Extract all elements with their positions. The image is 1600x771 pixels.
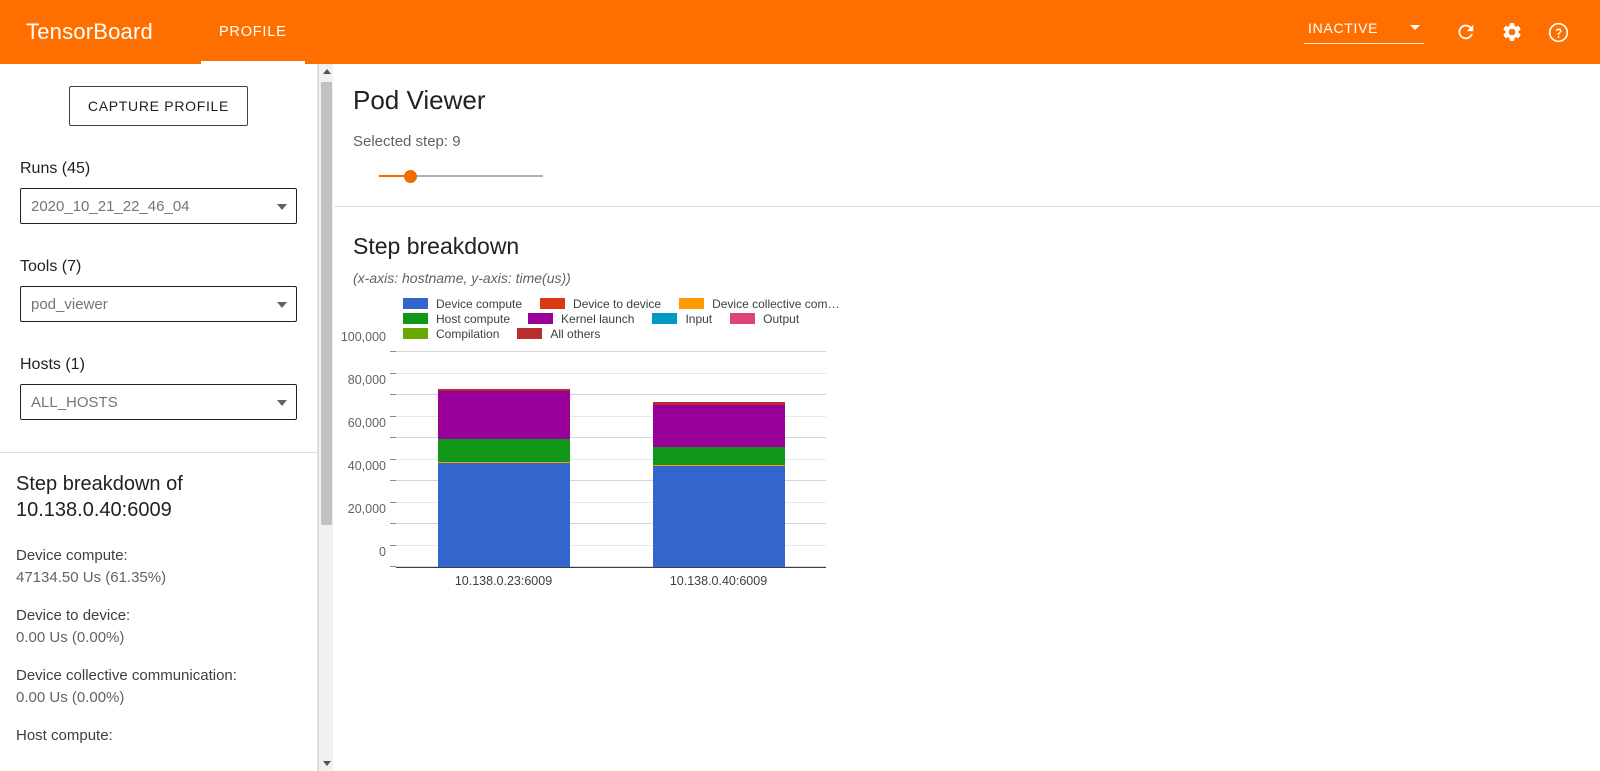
detail-row-key: Device compute: bbox=[16, 545, 301, 567]
detail-row-value: 0.00 Us (0.00%) bbox=[16, 687, 301, 709]
legend-swatch bbox=[528, 313, 553, 324]
chevron-down-icon bbox=[277, 400, 287, 406]
chart-legend: Device computeDevice to deviceDevice col… bbox=[403, 296, 873, 341]
app-header: TensorBoard PROFILE INACTIVE bbox=[0, 0, 1600, 64]
run-status-dropdown[interactable]: INACTIVE bbox=[1304, 20, 1424, 44]
legend-item[interactable]: Host compute bbox=[403, 312, 510, 326]
detail-row-value: 47134.50 Us (61.35%) bbox=[16, 567, 301, 589]
capture-profile-button[interactable]: CAPTURE PROFILE bbox=[69, 86, 248, 126]
page-title: Pod Viewer bbox=[353, 84, 1600, 116]
tab-profile[interactable]: PROFILE bbox=[201, 0, 305, 64]
detail-row-key: Device to device: bbox=[16, 605, 301, 627]
y-axis-tick-mark bbox=[390, 373, 396, 374]
bar-segment[interactable] bbox=[653, 466, 785, 567]
capture-profile-section: CAPTURE PROFILE bbox=[0, 64, 317, 126]
legend-item[interactable]: Device collective com… bbox=[679, 297, 839, 311]
legend-label: Output bbox=[763, 312, 799, 326]
y-axis-tick-mark bbox=[390, 480, 396, 481]
gridline bbox=[396, 373, 826, 374]
selected-step-label: Selected step: 9 bbox=[353, 133, 1600, 150]
bar-segment[interactable] bbox=[438, 391, 570, 438]
legend-swatch bbox=[403, 313, 428, 324]
hosts-label: Hosts (1) bbox=[20, 356, 297, 374]
legend-swatch bbox=[679, 298, 704, 309]
step-breakdown-card: Step breakdown (x-axis: hostname, y-axis… bbox=[334, 207, 1600, 596]
legend-label: Device to device bbox=[573, 297, 661, 311]
y-axis-tick-label: 60,000 bbox=[348, 416, 386, 430]
scroll-down-arrow-icon[interactable] bbox=[319, 756, 334, 771]
legend-swatch bbox=[540, 298, 565, 309]
y-axis-tick-label: 100,000 bbox=[341, 330, 386, 344]
bar-segment[interactable] bbox=[438, 463, 570, 567]
hosts-field: Hosts (1) ALL_HOSTS bbox=[20, 356, 297, 420]
bar-segment[interactable] bbox=[438, 439, 570, 462]
nav-tabs: PROFILE bbox=[201, 0, 305, 64]
legend-label: Device collective com… bbox=[712, 297, 839, 311]
scroll-up-arrow-icon[interactable] bbox=[319, 64, 334, 79]
y-axis-tick-label: 0 bbox=[379, 545, 386, 559]
detail-row-key: Host compute: bbox=[16, 725, 301, 747]
tools-label: Tools (7) bbox=[20, 258, 297, 276]
stacked-bar[interactable] bbox=[438, 389, 570, 567]
legend-item[interactable]: Device to device bbox=[540, 297, 661, 311]
tab-profile-label: PROFILE bbox=[219, 24, 287, 40]
legend-label: Host compute bbox=[436, 312, 510, 326]
help-icon bbox=[1547, 21, 1570, 44]
detail-row: Device to device:0.00 Us (0.00%) bbox=[16, 605, 301, 649]
step-breakdown-chart: Device computeDevice to deviceDevice col… bbox=[353, 296, 873, 596]
chart-title: Step breakdown bbox=[353, 233, 1600, 260]
page-header: Pod Viewer Selected step: 9 bbox=[334, 64, 1600, 184]
legend-swatch bbox=[403, 298, 428, 309]
chevron-down-icon bbox=[1410, 25, 1420, 30]
detail-rows: Device compute:47134.50 Us (61.35%)Devic… bbox=[16, 545, 301, 747]
legend-item[interactable]: Output bbox=[730, 312, 799, 326]
y-axis-tick-mark bbox=[390, 566, 396, 567]
legend-row: Host computeKernel launchInputOutput bbox=[403, 311, 873, 326]
y-axis-tick-label: 80,000 bbox=[348, 373, 386, 387]
step-breakdown-detail-panel: Step breakdown of 10.138.0.40:6009 Devic… bbox=[0, 453, 317, 747]
legend-item[interactable]: Input bbox=[652, 312, 712, 326]
legend-label: Input bbox=[685, 312, 712, 326]
legend-item[interactable]: Kernel launch bbox=[528, 312, 634, 326]
y-axis-tick-mark bbox=[390, 502, 396, 503]
legend-swatch bbox=[730, 313, 755, 324]
brand-title: TensorBoard bbox=[26, 19, 153, 45]
y-axis-tick-mark bbox=[390, 545, 396, 546]
legend-swatch bbox=[517, 328, 542, 339]
bar-segment[interactable] bbox=[653, 447, 785, 465]
header-actions: INACTIVE bbox=[1304, 12, 1578, 52]
detail-row-value: 0.00 Us (0.00%) bbox=[16, 627, 301, 649]
tools-select[interactable]: pod_viewer bbox=[20, 286, 297, 322]
bar-segment[interactable] bbox=[653, 405, 785, 447]
tools-field: Tools (7) pod_viewer bbox=[20, 258, 297, 322]
y-axis-tick-mark bbox=[390, 351, 396, 352]
runs-select[interactable]: 2020_10_21_22_46_04 bbox=[20, 188, 297, 224]
legend-label: Device compute bbox=[436, 297, 522, 311]
legend-swatch bbox=[403, 328, 428, 339]
chevron-down-icon bbox=[277, 204, 287, 210]
legend-row: Device computeDevice to deviceDevice col… bbox=[403, 296, 873, 311]
y-axis-tick-mark bbox=[390, 523, 396, 524]
hosts-select-value: ALL_HOSTS bbox=[31, 394, 118, 411]
detail-row-key: Device collective communication: bbox=[16, 665, 301, 687]
chart-plot-area: 020,00040,00060,00080,000100,00010.138.0… bbox=[396, 352, 826, 567]
legend-label: Compilation bbox=[436, 327, 499, 341]
detail-panel-title: Step breakdown of 10.138.0.40:6009 bbox=[16, 471, 301, 523]
legend-label: All others bbox=[550, 327, 600, 341]
detail-row: Device compute:47134.50 Us (61.35%) bbox=[16, 545, 301, 589]
gridline bbox=[396, 351, 826, 352]
chevron-down-icon bbox=[277, 302, 287, 308]
runs-field: Runs (45) 2020_10_21_22_46_04 bbox=[20, 160, 297, 224]
detail-row: Device collective communication:0.00 Us … bbox=[16, 665, 301, 709]
detail-row: Host compute: bbox=[16, 725, 301, 747]
step-slider-thumb[interactable] bbox=[404, 170, 417, 183]
y-axis-tick-label: 40,000 bbox=[348, 459, 386, 473]
runs-label: Runs (45) bbox=[20, 160, 297, 178]
legend-swatch bbox=[652, 313, 677, 324]
legend-row: CompilationAll others bbox=[403, 326, 873, 341]
sidebar-scrollbar-thumb[interactable] bbox=[321, 82, 332, 525]
run-status-value: INACTIVE bbox=[1308, 20, 1378, 36]
y-axis-tick-mark bbox=[390, 416, 396, 417]
refresh-icon bbox=[1455, 21, 1477, 43]
legend-label: Kernel launch bbox=[561, 312, 634, 326]
settings-button[interactable] bbox=[1492, 12, 1532, 52]
runs-select-value: 2020_10_21_22_46_04 bbox=[31, 198, 190, 215]
chart-subtitle: (x-axis: hostname, y-axis: time(us)) bbox=[353, 270, 1600, 286]
y-axis-tick-mark bbox=[390, 459, 396, 460]
legend-item[interactable]: All others bbox=[517, 327, 600, 341]
step-slider[interactable] bbox=[361, 168, 561, 184]
gear-icon bbox=[1501, 21, 1523, 43]
main-content: Pod Viewer Selected step: 9 Step breakdo… bbox=[334, 64, 1600, 771]
hosts-select[interactable]: ALL_HOSTS bbox=[20, 384, 297, 420]
x-axis-tick-label: 10.138.0.23:6009 bbox=[455, 574, 552, 588]
stacked-bar[interactable] bbox=[653, 402, 785, 567]
left-sidebar: CAPTURE PROFILE Runs (45) 2020_10_21_22_… bbox=[0, 64, 318, 771]
x-axis-tick-label: 10.138.0.40:6009 bbox=[670, 574, 767, 588]
refresh-button[interactable] bbox=[1446, 12, 1486, 52]
help-button[interactable] bbox=[1538, 12, 1578, 52]
sidebar-scrollbar[interactable] bbox=[318, 64, 333, 771]
legend-item[interactable]: Compilation bbox=[403, 327, 499, 341]
y-axis-tick-label: 20,000 bbox=[348, 502, 386, 516]
legend-item[interactable]: Device compute bbox=[403, 297, 522, 311]
y-axis-tick-mark bbox=[390, 437, 396, 438]
tools-select-value: pod_viewer bbox=[31, 296, 108, 313]
y-axis-tick-mark bbox=[390, 394, 396, 395]
